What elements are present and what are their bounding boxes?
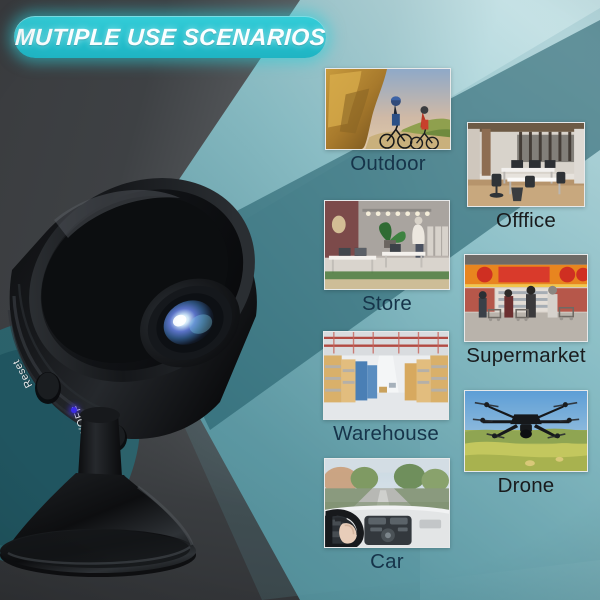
scenario-office-label: Offfice (467, 209, 585, 233)
scenario-store-image (324, 200, 450, 290)
scenario-outdoor: Outdoor (325, 68, 451, 150)
scenario-supermarket-image (464, 254, 588, 342)
scenario-warehouse: Warehouse (323, 331, 449, 420)
scenario-office: Offfice (467, 122, 585, 207)
scenario-drone-label: Drone (464, 474, 588, 498)
scenario-car: Car (324, 458, 450, 548)
scenario-car-label: Car (324, 550, 450, 574)
scenario-office-image (467, 122, 585, 207)
product-marketing-image: MUTIPLE USE SCENARIOS (0, 0, 600, 600)
scenario-supermarket-label: Supermarket (464, 344, 588, 368)
scenario-supermarket: Supermarket (464, 254, 588, 342)
scenario-store: Store (324, 200, 450, 290)
scenario-store-label: Store (324, 292, 450, 316)
scenario-drone-image (464, 390, 588, 472)
scenario-car-image (324, 458, 450, 548)
scenario-warehouse-label: Warehouse (323, 422, 449, 446)
header-banner-text: MUTIPLE USE SCENARIOS (14, 24, 326, 51)
scenario-drone: Drone (464, 390, 588, 472)
scenario-outdoor-label: Outdoor (325, 152, 451, 176)
header-banner: MUTIPLE USE SCENARIOS (14, 16, 326, 58)
camera-stand (0, 395, 260, 595)
scenario-warehouse-image (323, 331, 449, 420)
scenario-outdoor-image (325, 68, 451, 150)
